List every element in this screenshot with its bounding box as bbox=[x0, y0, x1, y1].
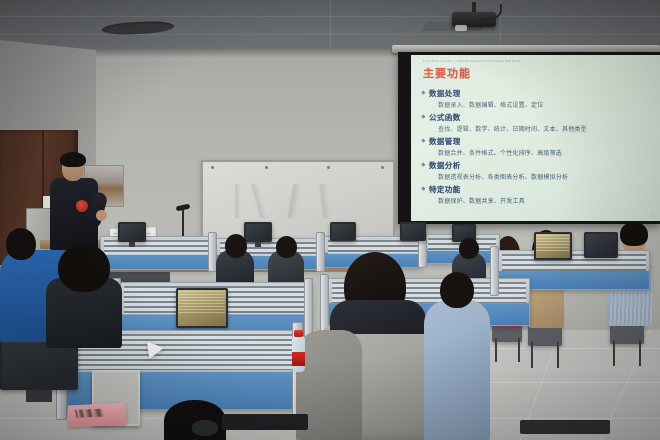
keyboard bbox=[520, 420, 610, 434]
slide-canvas: Excel Business Skills | Data Management … bbox=[411, 55, 660, 221]
slide-bullet-detail: 数据合并、条件格式、个性化排序、高级筛选 bbox=[438, 148, 657, 157]
presenter-shirt-logo bbox=[76, 200, 88, 212]
mouse bbox=[192, 420, 218, 436]
whiteboard-writing bbox=[231, 184, 361, 218]
slide-bullet-heading: 数据分析 bbox=[429, 160, 657, 171]
slide-bullet: 数据分析 数据透视表分析、各类图表分析、数据模拟分析 bbox=[429, 160, 657, 181]
slide-bullet-detail: 数据录入、数据编辑、格式设置、定位 bbox=[438, 100, 657, 109]
slide-page-number: 1 bbox=[652, 214, 654, 218]
slide-title: 主要功能 bbox=[423, 65, 471, 81]
bottle-label bbox=[292, 352, 305, 366]
classroom-photo: Excel Business Skills | Data Management … bbox=[0, 0, 660, 440]
ceiling-seam bbox=[330, 0, 331, 52]
projector-lens-icon bbox=[455, 25, 467, 31]
slide-bullet-detail: 数据保护、数据共享、开发工具 bbox=[438, 196, 657, 205]
slide-bullet: 数据处理 数据录入、数据编辑、格式设置、定位 bbox=[429, 88, 657, 109]
slide-bullet-heading: 数据处理 bbox=[429, 88, 657, 99]
slide-bullet: 公式函数 查找、逻辑、数学、统计、日期时间、文本、其他类型 bbox=[429, 112, 657, 133]
slide-bullet: 数据管理 数据合并、条件格式、个性化排序、高级筛选 bbox=[429, 136, 657, 157]
slide-bullet-detail: 数据透视表分析、各类图表分析、数据模拟分析 bbox=[438, 172, 657, 181]
slide-bullet: 特定功能 数据保护、数据共享、开发工具 bbox=[429, 184, 657, 205]
slide-bullet-heading: 数据管理 bbox=[429, 136, 657, 147]
presenter-hand bbox=[96, 210, 107, 221]
bottle-cap bbox=[294, 330, 303, 337]
slide-bullet-heading: 特定功能 bbox=[429, 184, 657, 195]
slide-header: Excel Business Skills | Data Management … bbox=[423, 60, 654, 63]
slide-bullet-detail: 查找、逻辑、数学、统计、日期时间、文本、其他类型 bbox=[438, 124, 657, 133]
paper-airplane bbox=[147, 339, 165, 359]
presenter-hair bbox=[60, 152, 86, 167]
keyboard bbox=[222, 414, 308, 430]
slide-bullet-heading: 公式函数 bbox=[429, 112, 657, 123]
